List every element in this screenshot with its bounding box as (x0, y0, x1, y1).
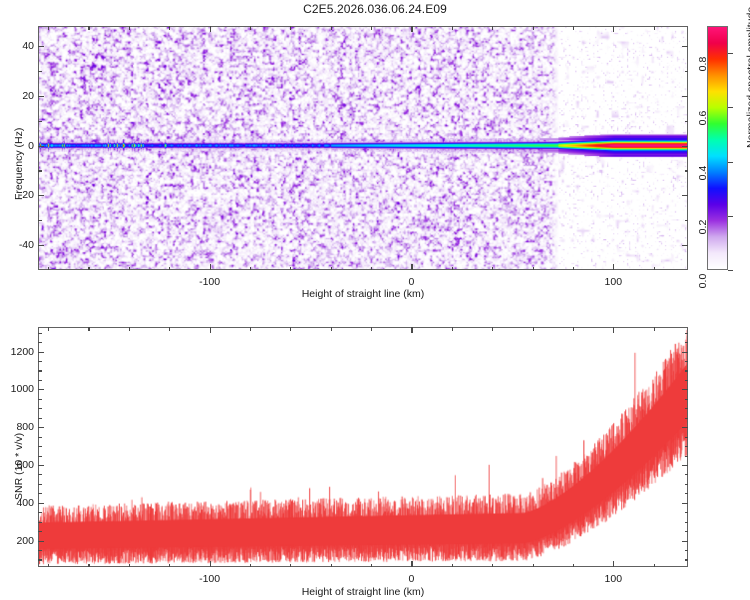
axis-tick (613, 264, 614, 270)
spectrogram-x-axis-label: Height of straight line (km) (302, 288, 425, 300)
axis-tick (38, 46, 44, 47)
axis-tick (685, 446, 689, 447)
axis-tick (685, 484, 689, 485)
axis-tick (682, 541, 688, 542)
axis-tick (38, 399, 42, 400)
axis-tick (685, 380, 689, 381)
axis-tick (38, 531, 42, 532)
axis-tick (685, 399, 689, 400)
axis-tick (654, 327, 655, 331)
axis-tick-label: 100 (605, 573, 623, 585)
axis-tick (728, 270, 733, 271)
axis-tick (210, 561, 211, 567)
axis-tick (250, 327, 251, 331)
colorbar-gradient (708, 27, 727, 269)
axis-tick (685, 408, 689, 409)
axis-tick (38, 408, 42, 409)
axis-tick (210, 327, 211, 333)
axis-tick (38, 427, 44, 428)
axis-tick (169, 327, 170, 331)
figure-canvas: C2E5.2026.036.06.24.E09 -100010040200-20… (0, 0, 750, 600)
axis-tick (38, 503, 44, 504)
axis-tick-label: 100 (605, 276, 623, 288)
colorbar-tick-label: 0.8 (697, 53, 709, 75)
axis-tick (38, 474, 42, 475)
axis-tick (38, 465, 44, 466)
axis-tick (682, 146, 688, 147)
axis-tick (250, 564, 251, 568)
axis-tick (685, 71, 689, 72)
axis-tick (682, 96, 688, 97)
axis-tick (129, 327, 130, 331)
axis-tick (129, 564, 130, 568)
axis-tick (38, 195, 44, 196)
axis-tick (411, 264, 412, 270)
spectrogram-image-layer (39, 27, 687, 269)
axis-tick (685, 531, 689, 532)
axis-tick (682, 195, 688, 196)
axis-tick (682, 427, 688, 428)
axis-tick (452, 267, 453, 271)
axis-tick (38, 437, 42, 438)
axis-tick (685, 333, 689, 334)
axis-tick (685, 220, 689, 221)
axis-tick (492, 564, 493, 568)
axis-tick (411, 327, 412, 333)
axis-tick-label: 800 (4, 421, 34, 433)
axis-tick (452, 26, 453, 30)
axis-tick (533, 564, 534, 568)
axis-tick (728, 216, 733, 217)
axis-tick (728, 162, 733, 163)
spectrogram-plot-area (38, 26, 688, 270)
axis-tick (685, 437, 689, 438)
axis-tick (492, 327, 493, 331)
axis-tick (654, 564, 655, 568)
axis-tick (38, 245, 44, 246)
axis-tick (411, 26, 412, 32)
snr-trace-layer (39, 328, 687, 566)
axis-tick (48, 267, 49, 271)
spectrogram-heatmap (39, 27, 687, 269)
figure-title: C2E5.2026.036.06.24.E09 (0, 2, 750, 16)
axis-tick (685, 370, 689, 371)
axis-tick (38, 493, 42, 494)
axis-tick (38, 361, 42, 362)
axis-tick (169, 26, 170, 30)
colorbar-tick-label: 0.2 (697, 216, 709, 238)
axis-tick (38, 541, 44, 542)
axis-tick (654, 267, 655, 271)
axis-tick (685, 418, 689, 419)
axis-tick (38, 121, 42, 122)
axis-tick (250, 26, 251, 30)
axis-tick (38, 342, 42, 343)
axis-tick (685, 170, 689, 171)
axis-tick (573, 26, 574, 30)
axis-tick (682, 46, 688, 47)
axis-tick (210, 264, 211, 270)
axis-tick (613, 561, 614, 567)
axis-tick (290, 267, 291, 271)
axis-tick (38, 380, 42, 381)
axis-tick (371, 267, 372, 271)
axis-tick (685, 522, 689, 523)
axis-tick (331, 267, 332, 271)
axis-tick (452, 564, 453, 568)
axis-tick (129, 267, 130, 271)
axis-tick (290, 564, 291, 568)
axis-tick (613, 327, 614, 333)
snr-x-axis-label: Height of straight line (km) (302, 586, 425, 598)
colorbar-label: Normalized spectral amplitude (745, 7, 750, 148)
colorbar-tick-label: 0.0 (697, 270, 709, 292)
axis-tick (685, 342, 689, 343)
axis-tick (573, 267, 574, 271)
axis-tick (533, 267, 534, 271)
axis-tick-label: 0 (409, 276, 415, 288)
axis-tick (685, 121, 689, 122)
axis-tick (48, 327, 49, 331)
axis-tick (685, 456, 689, 457)
axis-tick (38, 559, 42, 560)
axis-tick (38, 522, 42, 523)
axis-tick (452, 327, 453, 331)
axis-tick (38, 352, 44, 353)
axis-tick (685, 474, 689, 475)
axis-tick (38, 333, 42, 334)
axis-tick (38, 484, 42, 485)
axis-tick (290, 327, 291, 331)
axis-tick (682, 389, 688, 390)
axis-tick (38, 370, 42, 371)
axis-tick (371, 26, 372, 30)
axis-tick (371, 327, 372, 331)
axis-tick (682, 465, 688, 466)
axis-tick (573, 327, 574, 331)
axis-tick (685, 493, 689, 494)
axis-tick (728, 53, 733, 54)
axis-tick (682, 245, 688, 246)
axis-tick (533, 26, 534, 30)
axis-tick (38, 389, 44, 390)
axis-tick (290, 26, 291, 30)
axis-tick (685, 512, 689, 513)
axis-tick (573, 564, 574, 568)
axis-tick (129, 26, 130, 30)
axis-tick (728, 107, 733, 108)
spectrogram-y-axis-label: Frequency (Hz) (13, 128, 25, 200)
axis-tick (169, 564, 170, 568)
axis-tick (48, 564, 49, 568)
axis-tick (371, 564, 372, 568)
axis-tick (88, 26, 89, 30)
axis-tick (331, 26, 332, 30)
axis-tick-label: 0 (409, 573, 415, 585)
axis-tick (38, 96, 44, 97)
axis-tick-label: 40 (8, 40, 34, 52)
colorbar-tick-label: 0.4 (697, 162, 709, 184)
axis-tick (88, 327, 89, 331)
axis-tick (492, 26, 493, 30)
axis-tick-label: 1000 (4, 383, 34, 395)
axis-tick (38, 418, 42, 419)
axis-tick (210, 26, 211, 32)
axis-tick (682, 503, 688, 504)
axis-tick (331, 327, 332, 331)
snr-plot-area (38, 327, 688, 567)
axis-tick (492, 267, 493, 271)
axis-tick (88, 564, 89, 568)
colorbar (707, 26, 728, 270)
axis-tick (613, 26, 614, 32)
axis-tick (38, 170, 42, 171)
axis-tick (685, 550, 689, 551)
snr-y-axis-label: SNR (10 * v/v) (13, 433, 25, 500)
axis-tick-label: 200 (4, 535, 34, 547)
axis-tick (38, 512, 42, 513)
axis-tick (331, 564, 332, 568)
axis-tick (38, 220, 42, 221)
colorbar-tick-label: 0.6 (697, 107, 709, 129)
axis-tick (48, 26, 49, 30)
axis-tick-label: 20 (8, 90, 34, 102)
axis-tick (682, 352, 688, 353)
axis-tick (654, 26, 655, 30)
axis-tick-label: 1200 (4, 346, 34, 358)
axis-tick (88, 267, 89, 271)
axis-tick (38, 456, 42, 457)
axis-tick (38, 550, 42, 551)
axis-tick (411, 561, 412, 567)
axis-tick-label: -100 (199, 573, 220, 585)
axis-tick (685, 559, 689, 560)
axis-tick (533, 327, 534, 331)
axis-tick (38, 146, 44, 147)
axis-tick-label: -40 (8, 239, 34, 251)
snr-line-trace (39, 328, 687, 566)
axis-tick (250, 267, 251, 271)
axis-tick (685, 361, 689, 362)
axis-tick-label: -100 (199, 276, 220, 288)
axis-tick (38, 71, 42, 72)
axis-tick (169, 267, 170, 271)
axis-tick (38, 446, 42, 447)
